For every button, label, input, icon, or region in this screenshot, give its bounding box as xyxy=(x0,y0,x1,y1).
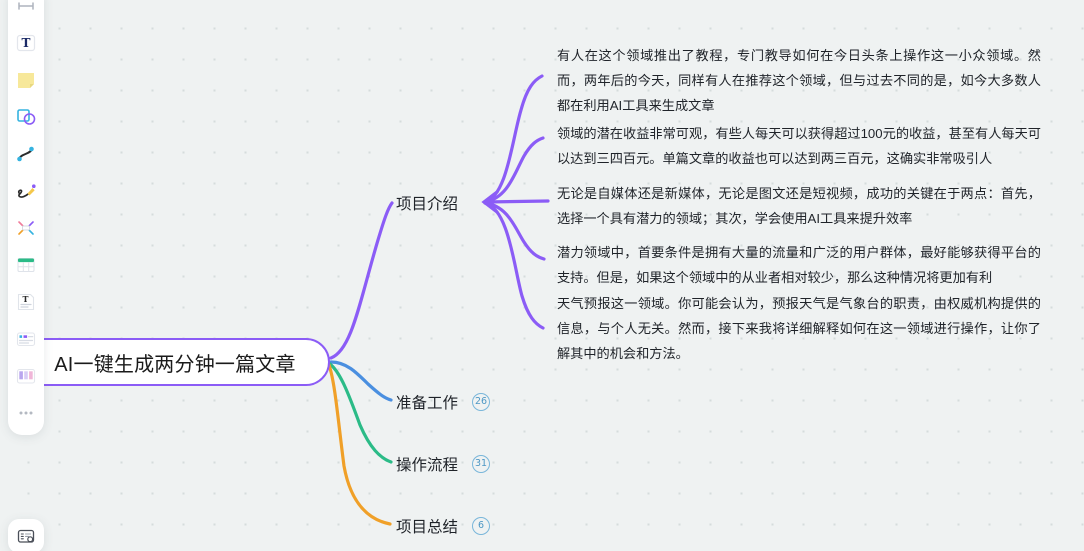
shape-icon[interactable] xyxy=(12,103,40,131)
kanban-icon[interactable] xyxy=(12,362,40,390)
connector-icon[interactable] xyxy=(12,214,40,242)
leaf-node[interactable]: 领域的潜在收益非常可观，有些人每天可以获得超过100元的收益，甚至有人每天可以达… xyxy=(557,121,1041,171)
branch-flow xyxy=(330,364,391,462)
topic-node-prep[interactable]: 准备工作 26 xyxy=(396,391,490,413)
topic-node-intro[interactable]: 项目介绍 xyxy=(396,192,458,214)
svg-text:T: T xyxy=(22,36,31,50)
curve-line-icon[interactable] xyxy=(12,140,40,168)
mindmap-style-icon[interactable] xyxy=(8,519,44,551)
leaf-node[interactable]: 潜力领域中，首要条件是拥有大量的流量和广泛的用户群体，最好能够获得平台的支持。但… xyxy=(557,240,1041,290)
left-toolbar[interactable]: T xyxy=(8,0,44,435)
topic-label: 项目总结 xyxy=(396,515,458,537)
topic-node-flow[interactable]: 操作流程 31 xyxy=(396,453,490,475)
status-badge: 6 xyxy=(472,517,490,535)
subbranch-2 xyxy=(485,138,543,202)
mindmap-canvas[interactable]: T xyxy=(0,0,1084,551)
sticky-note-icon[interactable] xyxy=(12,66,40,94)
branch-intro xyxy=(331,203,392,358)
text-doc-icon[interactable]: T xyxy=(12,288,40,316)
branch-prep xyxy=(331,362,391,400)
subbranch-4 xyxy=(485,203,544,259)
table-icon[interactable] xyxy=(12,251,40,279)
topic-label: 项目介绍 xyxy=(396,192,458,214)
leaf-node[interactable]: 无论是自媒体还是新媒体，无论是图文还是短视频，成功的关键在于两点：首先，选择一个… xyxy=(557,181,1041,231)
status-badge: 26 xyxy=(472,393,490,411)
topic-node-summary[interactable]: 项目总结 6 xyxy=(396,515,490,537)
branch-arrow-icon xyxy=(484,192,497,212)
more-icon[interactable] xyxy=(12,399,40,427)
svg-text:T: T xyxy=(23,294,29,304)
measure-icon[interactable] xyxy=(12,0,40,20)
branch-summary xyxy=(329,365,390,524)
root-node-label: ，AI一键生成两分钟一篇文章 xyxy=(22,348,296,377)
subbranch-3 xyxy=(485,201,548,202)
pencil-draw-icon[interactable] xyxy=(12,177,40,205)
topic-label: 准备工作 xyxy=(396,391,458,413)
status-badge: 31 xyxy=(472,455,490,473)
leaf-node[interactable]: 天气预报这一领域。你可能会认为，预报天气是气象台的职责，由权威机构提供的信息，与… xyxy=(557,291,1041,366)
topic-label: 操作流程 xyxy=(396,453,458,475)
root-node[interactable]: ，AI一键生成两分钟一篇文章 xyxy=(20,338,330,386)
subbranch-5 xyxy=(485,203,543,328)
leaf-node[interactable]: 有人在这个领域推出了教程，专门教导如何在今日头条上操作这一小众领域。然而，两年后… xyxy=(557,43,1041,118)
subbranch-1 xyxy=(485,76,542,202)
card-note-icon[interactable] xyxy=(12,325,40,353)
text-box-icon[interactable]: T xyxy=(12,29,40,57)
